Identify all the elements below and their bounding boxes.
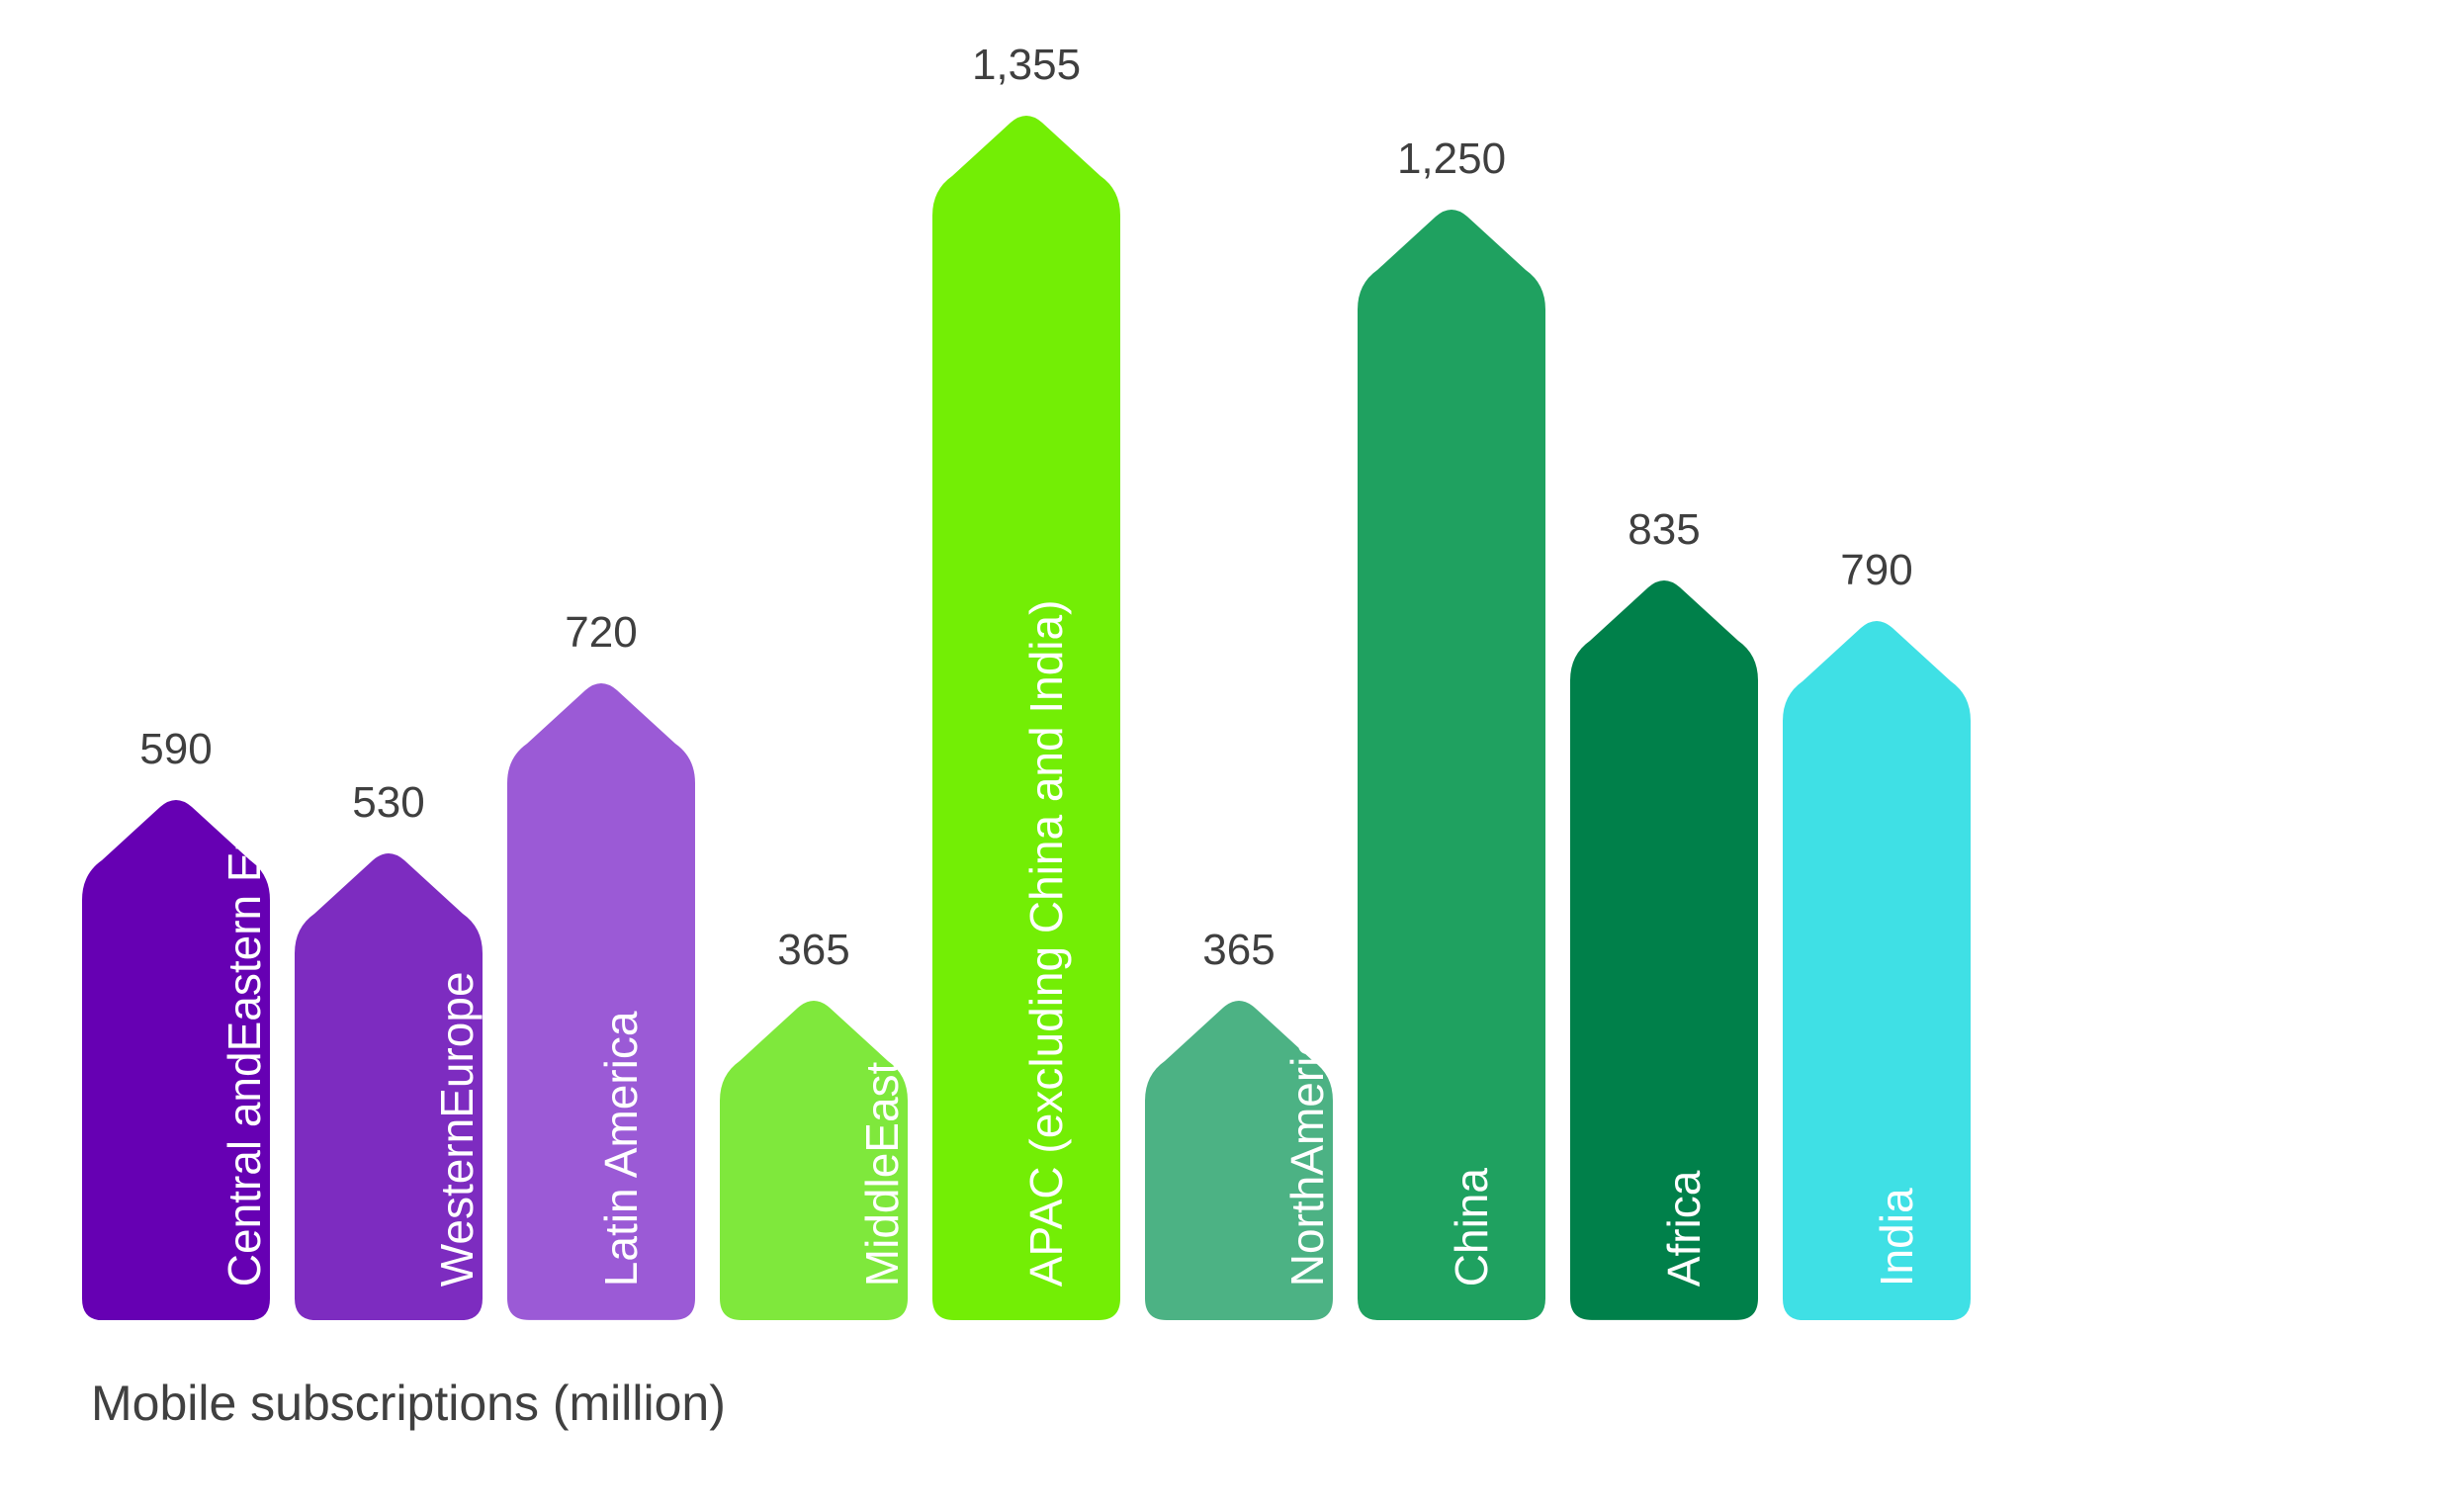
- bar-chart-plot-area: Central andEastern Europe590WesternEurop…: [0, 0, 2464, 1511]
- bar-category-label-line: Central and: [219, 1051, 270, 1287]
- bar-category-label-line: Europe: [431, 971, 483, 1117]
- bar-category-label-line: North: [1281, 1176, 1333, 1287]
- bar-category-label-line: Eastern Europe: [219, 736, 270, 1052]
- bar-latin-america[interactable]: Latin America720: [507, 676, 695, 1320]
- bar-china[interactable]: China1,250: [1358, 203, 1545, 1320]
- bar-category-label-line: Africa: [1658, 1170, 1710, 1287]
- bar-western-europe[interactable]: WesternEurope530: [295, 846, 483, 1320]
- bar-value-label: 530: [352, 781, 424, 825]
- bar-category-label: Central andEastern Europe: [220, 736, 269, 1287]
- bar-category-label: WesternEurope: [433, 971, 482, 1287]
- bar-category-label-line: East: [856, 1061, 908, 1152]
- bar-value-label: 365: [1202, 929, 1275, 972]
- bar-category-label: NorthAmerica: [1283, 1009, 1332, 1287]
- bar-category-label-line: Middle: [856, 1152, 908, 1287]
- bar-apac-excluding-china-and-india[interactable]: APAC (excluding China and India)1,355: [932, 109, 1120, 1320]
- bar-india[interactable]: India790: [1783, 614, 1971, 1320]
- chart-caption: Mobile subscriptions (million): [91, 1375, 726, 1432]
- bar-category-label-line: APAC (excluding China and India): [1020, 599, 1072, 1287]
- bar-category-label: MiddleEast: [858, 1061, 907, 1287]
- bar-value-label: 365: [777, 929, 849, 972]
- bar-category-label: Latin America: [597, 1011, 646, 1287]
- bar-category-label: China: [1448, 1168, 1496, 1287]
- bar-category-label-line: India: [1871, 1188, 1922, 1287]
- bar-category-label-line: America: [1281, 1009, 1333, 1176]
- bar-value-label: 1,250: [1397, 137, 1506, 181]
- bar-africa[interactable]: Africa835: [1570, 574, 1758, 1320]
- bar-value-label: 790: [1840, 549, 1912, 592]
- bar-category-label-line: China: [1446, 1168, 1497, 1287]
- bar-central-and-eastern-europe[interactable]: Central andEastern Europe590: [82, 793, 270, 1320]
- bar-category-label: India: [1873, 1188, 1921, 1287]
- bar-value-label: 590: [139, 728, 212, 771]
- bar-category-label: Africa: [1660, 1170, 1709, 1287]
- chart-canvas: Central andEastern Europe590WesternEurop…: [0, 0, 2464, 1511]
- bar-category-label-line: Western: [431, 1118, 483, 1287]
- bar-category-label-line: Latin America: [595, 1011, 647, 1287]
- bar-category-label: APAC (excluding China and India): [1022, 599, 1071, 1287]
- bar-north-america[interactable]: NorthAmerica365: [1145, 994, 1333, 1320]
- bar-value-label: 1,355: [972, 44, 1081, 87]
- bar-middle-east[interactable]: MiddleEast365: [720, 994, 908, 1320]
- bar-value-label: 720: [565, 611, 637, 655]
- bar-shape: [1358, 203, 1545, 1320]
- bar-value-label: 835: [1628, 508, 1700, 552]
